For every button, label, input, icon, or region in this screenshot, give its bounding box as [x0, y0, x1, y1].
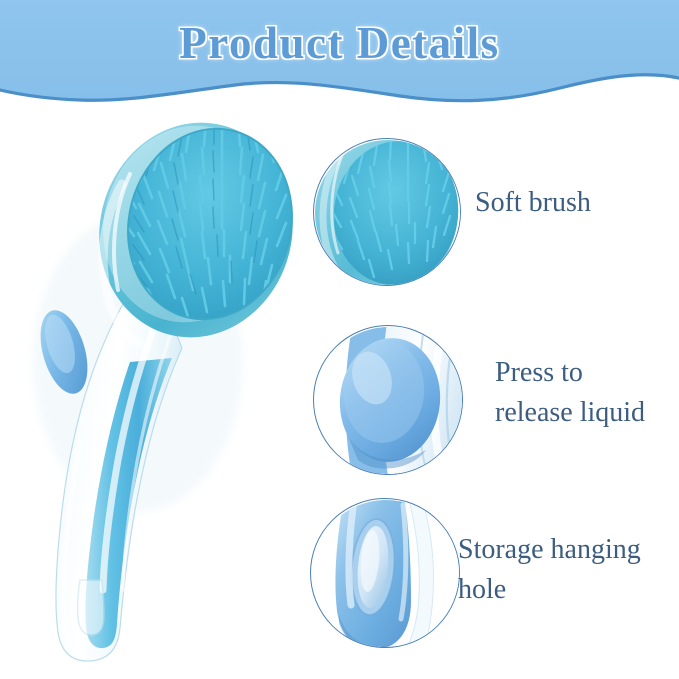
label-line: Storage hanging [458, 530, 679, 570]
hanging-hole-closeup-icon [310, 498, 460, 648]
brush-head-closeup-icon [313, 138, 461, 286]
header-banner: Product Details [0, 0, 679, 118]
label-line: release liquid [495, 393, 679, 433]
callout-hanging-hole-label: Storage hanging hole [458, 530, 679, 610]
label-line: hole [458, 570, 679, 610]
product-details-infographic: Product Details [0, 0, 679, 679]
page-title: Product Details [0, 17, 679, 69]
product-image [18, 112, 318, 664]
label-line: Press to [495, 353, 679, 393]
label-line: Soft brush [475, 183, 679, 223]
callout-soft-brush-label: Soft brush [475, 183, 679, 223]
callout-press-release-label: Press to release liquid [495, 353, 679, 433]
pump-button-closeup-icon [313, 325, 463, 475]
product-illustration [18, 112, 318, 664]
